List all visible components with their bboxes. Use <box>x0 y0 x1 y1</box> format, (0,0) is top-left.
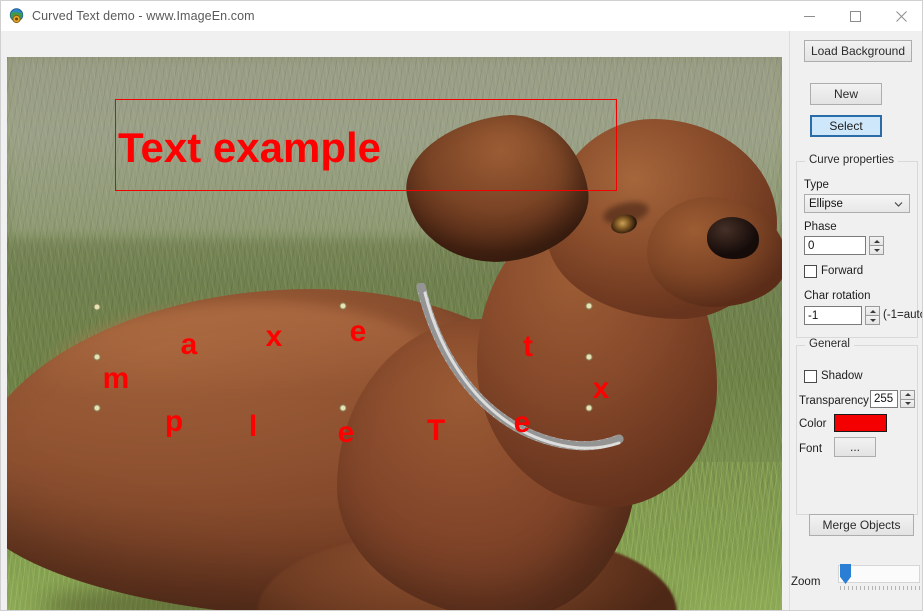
zoom-tick <box>919 586 920 590</box>
font-label: Font <box>799 443 822 455</box>
char-rotation-stepper[interactable] <box>865 306 880 325</box>
zoom-tick <box>852 586 853 590</box>
image-viewport[interactable]: Text example maxetxpleTe <box>7 57 782 611</box>
zoom-tick <box>840 586 841 590</box>
zoom-tick <box>907 586 908 590</box>
curved-text-char[interactable]: m <box>103 364 130 394</box>
char-rotation-stepper-up[interactable] <box>865 306 880 315</box>
curve-properties-group-title: Curve properties <box>805 154 898 166</box>
type-label: Type <box>804 179 829 191</box>
char-rotation-stepper-down[interactable] <box>865 315 880 325</box>
zoom-tick <box>895 586 896 590</box>
select-object-button[interactable]: Select <box>810 115 882 137</box>
forward-label: Forward <box>821 265 863 277</box>
curved-text-char[interactable]: x <box>266 322 283 352</box>
text-object-label[interactable]: Text example <box>118 127 381 169</box>
curved-text-char[interactable]: e <box>338 418 355 448</box>
curve-handle[interactable] <box>340 405 347 412</box>
curved-text-char[interactable]: e <box>514 408 531 438</box>
curve-handle[interactable] <box>94 405 101 412</box>
zoom-tick <box>868 586 869 590</box>
transparency-input[interactable]: 255 <box>870 390 898 408</box>
zoom-tick <box>903 586 904 590</box>
transparency-stepper[interactable] <box>900 390 915 408</box>
curved-text-char[interactable]: t <box>523 332 533 362</box>
new-object-button[interactable]: New <box>810 83 882 105</box>
zoom-tick <box>844 586 845 590</box>
curve-handle[interactable] <box>94 304 101 311</box>
zoom-tick <box>875 586 876 590</box>
curved-text-char[interactable]: a <box>181 330 198 360</box>
zoom-tick <box>860 586 861 590</box>
shadow-label: Shadow <box>821 370 863 382</box>
zoom-tick <box>848 586 849 590</box>
zoom-tick <box>879 586 880 590</box>
phase-input[interactable]: 0 <box>804 236 866 255</box>
zoom-tick <box>887 586 888 590</box>
minimize-button[interactable] <box>786 1 832 31</box>
client-area: Text example maxetxpleTe Load Background… <box>1 31 923 611</box>
close-button[interactable] <box>878 1 923 31</box>
curve-handle[interactable] <box>586 354 593 361</box>
shadow-checkbox[interactable] <box>804 370 817 383</box>
tools-panel: Load Background New Select Curve propert… <box>789 31 923 611</box>
transparency-stepper-up[interactable] <box>900 390 915 399</box>
transparency-stepper-down[interactable] <box>900 399 915 409</box>
char-rotation-hint: (-1=auto) <box>883 309 923 321</box>
curve-handle[interactable] <box>586 303 593 310</box>
transparency-label: Transparency <box>799 395 869 407</box>
window-controls <box>786 1 923 31</box>
phase-label: Phase <box>804 221 837 233</box>
zoom-tick <box>899 586 900 590</box>
curved-text-char[interactable]: x <box>593 374 610 404</box>
general-group-title: General <box>805 338 854 350</box>
phase-stepper[interactable] <box>869 236 884 255</box>
window-title: Curved Text demo - www.ImageEn.com <box>32 9 255 23</box>
curve-type-value: Ellipse <box>809 198 843 210</box>
color-label: Color <box>799 418 826 430</box>
curve-handle[interactable] <box>94 354 101 361</box>
globe-icon <box>9 8 25 24</box>
curved-text-char[interactable]: l <box>249 412 257 442</box>
title-bar: Curved Text demo - www.ImageEn.com <box>1 1 923 31</box>
phase-stepper-down[interactable] <box>869 245 884 255</box>
zoom-tick <box>891 586 892 590</box>
merge-objects-button[interactable]: Merge Objects <box>809 514 914 536</box>
zoom-tick <box>864 586 865 590</box>
zoom-tick <box>915 586 916 590</box>
object-overlay: Text example maxetxpleTe <box>7 57 782 611</box>
zoom-tick <box>883 586 884 590</box>
curve-handle[interactable] <box>586 405 593 412</box>
curved-text-char[interactable]: e <box>350 317 367 347</box>
color-swatch[interactable] <box>834 414 887 432</box>
forward-checkbox[interactable] <box>804 265 817 278</box>
font-button[interactable]: ... <box>834 437 876 457</box>
chevron-down-icon <box>894 199 903 208</box>
char-rotation-label: Char rotation <box>804 290 870 302</box>
char-rotation-input[interactable]: -1 <box>804 306 862 325</box>
curve-handle[interactable] <box>340 303 347 310</box>
load-background-button[interactable]: Load Background <box>804 40 912 62</box>
zoom-slider-ticks <box>840 586 920 590</box>
zoom-tick <box>856 586 857 590</box>
application-window: Curved Text demo - www.ImageEn.com <box>0 0 923 611</box>
curve-type-select[interactable]: Ellipse <box>804 194 910 213</box>
curved-text-char[interactable]: p <box>165 407 183 437</box>
zoom-tick <box>911 586 912 590</box>
phase-stepper-up[interactable] <box>869 236 884 245</box>
zoom-label: Zoom <box>791 576 820 588</box>
zoom-tick <box>872 586 873 590</box>
maximize-button[interactable] <box>832 1 878 31</box>
curved-text-char[interactable]: T <box>427 416 445 446</box>
